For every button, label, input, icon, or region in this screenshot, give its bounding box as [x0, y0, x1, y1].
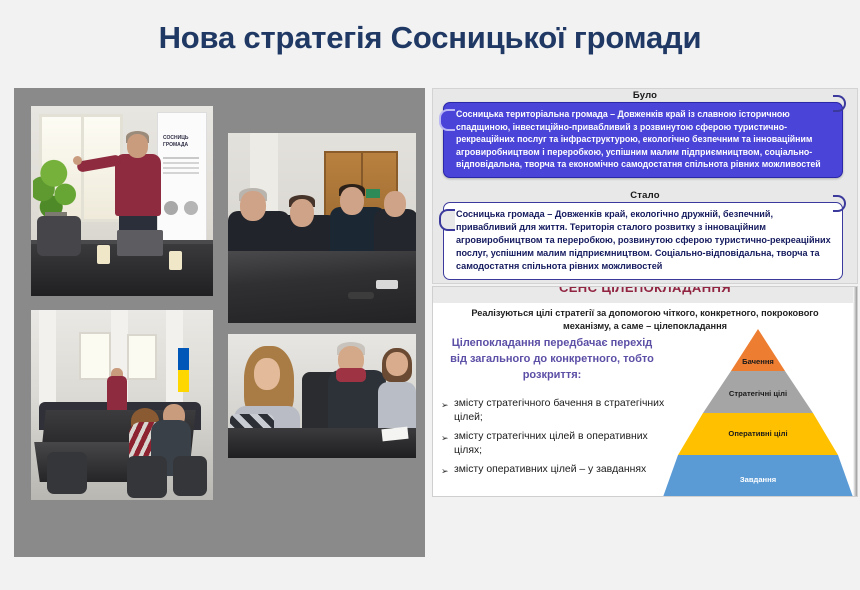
conference-hall-photo [31, 310, 213, 500]
participant-4-head [384, 191, 406, 217]
pyramid-label-strategic: Стратегічні цілі [663, 389, 853, 398]
ukraine-flag-icon [178, 348, 189, 392]
arrow-bullet-icon: ➢ [441, 398, 449, 412]
office-chair-3 [173, 456, 207, 496]
comparison-panel: Було Сосницька територіальна громада – Д… [432, 88, 858, 284]
exit-sign-icon [366, 189, 380, 198]
arrow-bullet-icon: ➢ [441, 464, 449, 478]
before-statement-text: Сосницька територіальна громада – Довжен… [456, 109, 821, 169]
goal-pyramid-diagram: Бачення Стратегічні цілі Оперативні цілі… [663, 329, 853, 497]
presenter-torso [115, 154, 161, 216]
list-item: ➢ змісту стратегічних цілей в оперативни… [441, 430, 667, 458]
list-item: ➢ змісту оперативних цілей – у завданнях [441, 463, 667, 481]
phone-on-table [376, 280, 398, 289]
banner-title-line2: ГРОМАДА [163, 142, 188, 148]
banner-title-line1: СОСНИЦЬ [163, 135, 188, 141]
after-label-wrap: Стало [433, 189, 857, 201]
quote-tail-icon [833, 195, 846, 212]
pyramid-label-operational: Оперативні цілі [663, 429, 853, 438]
quote-tail-icon [833, 95, 846, 112]
page-title: Нова стратегія Сосницької громади [0, 20, 860, 56]
hall-window-1 [79, 332, 111, 380]
banner-circle-2 [184, 201, 198, 215]
chair [37, 216, 81, 256]
presenter-photo: СОСНИЦЬ ГРОМАДА [31, 106, 213, 296]
hall-window-2 [127, 334, 157, 380]
participant-3-head [340, 187, 364, 215]
office-chair-1 [47, 452, 87, 494]
pyramid-svg [663, 329, 853, 497]
after-label: Стало [433, 189, 857, 201]
pyramid-label-vision: Бачення [663, 357, 853, 366]
goal-setting-bullets: ➢ змісту стратегічного бачення в стратег… [441, 397, 667, 486]
list-item-label: змісту оперативних цілей – у завданнях [454, 464, 646, 475]
banner-lines [163, 157, 199, 159]
young-woman-photo [228, 334, 416, 458]
goal-setting-header: СЕНС ЦІЛЕПОКЛАДАННЯ [433, 287, 857, 303]
quote-bracket-icon [439, 109, 455, 131]
after-statement-text: Сосницька громада – Довженків край, екол… [456, 209, 831, 271]
goal-setting-lead: Цілепокладання передбачає перехід від за… [445, 335, 659, 383]
photo-collage: СОСНИЦЬ ГРОМАДА [14, 88, 425, 557]
red-scarf [336, 368, 366, 382]
glasses-on-table [348, 292, 374, 299]
list-item: ➢ змісту стратегічного бачення в стратег… [441, 397, 667, 425]
cup-1 [97, 245, 110, 264]
goal-setting-panel: СЕНС ЦІЛЕПОКЛАДАННЯ Реалізуються цілі ст… [432, 286, 858, 497]
list-item-label: змісту стратегічного бачення в стратегіч… [454, 398, 664, 423]
young-woman-face [254, 358, 280, 390]
goal-setting-header-text: СЕНС ЦІЛЕПОКЛАДАННЯ [433, 287, 857, 295]
pyramid-label-tasks: Завдання [663, 475, 853, 484]
rollup-banner: СОСНИЦЬ ГРОМАДА [157, 112, 207, 250]
banner-circle-1 [164, 201, 178, 215]
speaker-body [107, 376, 127, 410]
list-item-label: змісту стратегічних цілей в оперативних … [454, 431, 648, 456]
background-woman-head [386, 352, 408, 376]
presenter-hand [73, 156, 82, 165]
arrow-bullet-icon: ➢ [441, 431, 449, 445]
panel-right-edge [853, 287, 857, 496]
before-label: Було [433, 89, 857, 101]
participants-photo [228, 133, 416, 323]
after-statement: Сосницька громада – Довженків край, екол… [443, 202, 843, 280]
quote-bracket-icon [439, 209, 455, 231]
laptop [117, 230, 163, 256]
participant-1-head [240, 191, 266, 221]
participant-2-head [290, 199, 314, 227]
before-statement: Сосницька територіальна громада – Довжен… [443, 102, 843, 178]
cup-2 [169, 251, 182, 270]
presenter-head [127, 134, 148, 158]
office-chair-2 [127, 456, 167, 498]
